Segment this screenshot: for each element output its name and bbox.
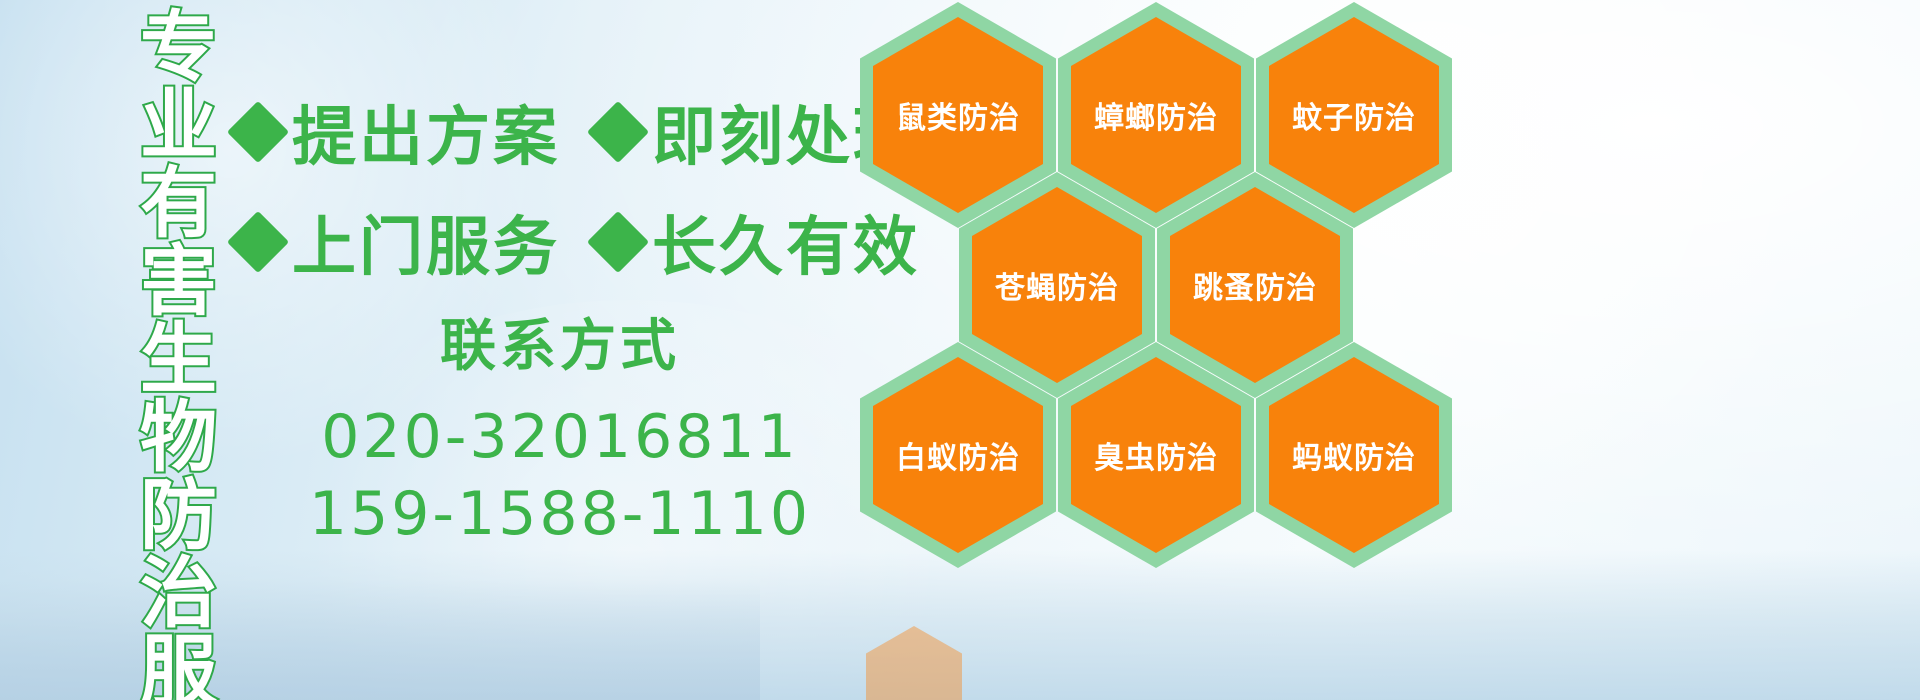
diamond-icon <box>587 101 649 163</box>
service-hex-label: 蚂蚁防治 <box>1292 433 1416 477</box>
feature-row-2: 上门服务 长久有效 <box>236 196 920 288</box>
service-hex-label: 跳蚤防治 <box>1193 263 1317 307</box>
diamond-icon <box>227 211 289 273</box>
promo-banner: 专业有害生物防治服务 提出方案 即刻处理 上门服务 长久有效 联系方式 020-… <box>0 0 1920 700</box>
phone-mobile[interactable]: 159-1588-1110 <box>260 476 860 553</box>
service-hex-label: 鼠类防治 <box>896 93 1020 137</box>
page-title: 专业有害生物防治服务 <box>106 6 210 566</box>
contact-block: 联系方式 020-32016811 159-1588-1110 <box>260 318 860 552</box>
background-bottom-band <box>0 550 1920 700</box>
feature-item-label: 提出方案 <box>292 86 560 178</box>
service-hex-label: 臭虫防治 <box>1094 433 1218 477</box>
background-bottom-band-left <box>0 580 760 700</box>
diamond-icon <box>587 211 649 273</box>
feature-row-1: 提出方案 即刻处理 <box>236 86 920 178</box>
service-hex-label: 苍蝇防治 <box>995 263 1119 307</box>
contact-title: 联系方式 <box>260 318 860 377</box>
diamond-icon <box>227 101 289 163</box>
service-hex-label: 蚊子防治 <box>1292 93 1416 137</box>
phone-landline[interactable]: 020-32016811 <box>260 399 860 476</box>
service-hex-label: 白蚁防治 <box>896 433 1020 477</box>
service-hex-label: 蟑螂防治 <box>1094 93 1218 137</box>
feature-item-label: 上门服务 <box>292 196 560 288</box>
background-hex-accent <box>866 626 962 700</box>
service-honeycomb: 鼠类防治 蟑螂防治 蚊子防治 苍蝇防治 跳蚤防治 白蚁防治 臭虫防治 蚂蚁防治 <box>856 0 1456 554</box>
